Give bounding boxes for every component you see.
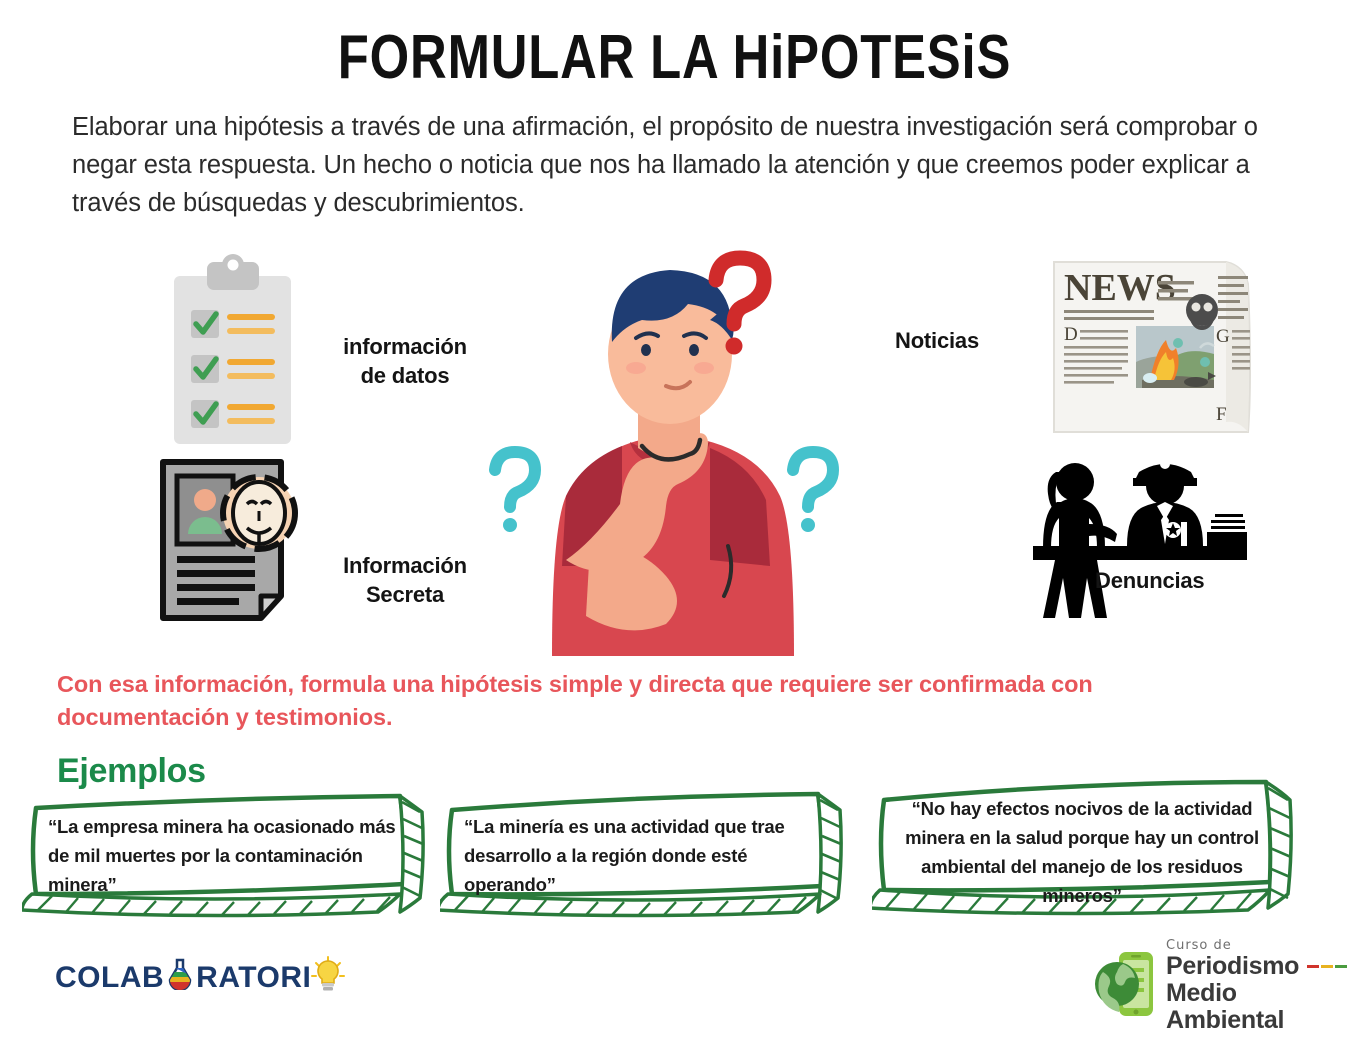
- example-quote: “No hay efectos nocivos de la actividad …: [892, 794, 1272, 910]
- clipboard-checklist-icon: [160, 254, 305, 454]
- question-mark-red-icon: [700, 250, 776, 365]
- examples-heading: Ejemplos: [57, 752, 206, 791]
- curso-line-periodismo: Periodismo: [1166, 953, 1349, 980]
- curso-label: Curso de: [1166, 938, 1349, 953]
- police-report-desk-icon: [1025, 450, 1255, 635]
- svg-text:NEWS: NEWS: [1064, 267, 1176, 309]
- lightbulb-icon: [311, 955, 345, 1001]
- question-mark-teal-left-icon: [482, 444, 544, 541]
- curso-color-bar: [1307, 965, 1347, 968]
- svg-text:G: G: [1216, 326, 1230, 347]
- curso-line-periodismo-text: Periodismo: [1166, 953, 1299, 980]
- example-box: “No hay efectos nocivos de la actividad …: [872, 778, 1312, 922]
- illustration-band: información de datos I: [0, 236, 1349, 656]
- colaboratorio-text-part1: COLAB: [55, 963, 164, 993]
- label-denuncias: Denuncias: [1095, 566, 1270, 595]
- example-box: “La empresa minera ha ocasionado más de …: [22, 790, 442, 922]
- globe-phone-icon: [1095, 948, 1157, 1025]
- call-to-action-text: Con esa información, formula una hipótes…: [57, 668, 1257, 734]
- curso-line-medio-ambiental: Medio Ambiental: [1166, 980, 1349, 1034]
- newspaper-icon: NEWS D G F: [1050, 250, 1265, 450]
- svg-text:F: F: [1216, 404, 1227, 425]
- question-mark-teal-right-icon: [780, 444, 842, 541]
- rainbow-flask-icon: [165, 958, 195, 998]
- colaboratorio-text-part2: RATORI: [196, 963, 311, 993]
- example-box: “La minería es una actividad que trae de…: [440, 790, 860, 922]
- colaboratorio-logo: COLAB RATORI: [55, 955, 345, 1001]
- example-quote: “La empresa minera ha ocasionado más de …: [48, 812, 400, 899]
- curso-periodismo-logo: Curso de Periodismo Medio Ambiental: [1095, 938, 1349, 1034]
- svg-text:D: D: [1064, 324, 1078, 345]
- label-noticias: Noticias: [895, 326, 1035, 355]
- infographic-page: FORMULAR LA HiPOTESiS Elaborar una hipót…: [0, 0, 1349, 1047]
- intro-paragraph: Elaborar una hipótesis a través de una a…: [72, 108, 1287, 222]
- page-title: FORMULAR LA HiPOTESiS: [121, 22, 1227, 93]
- example-quote: “La minería es una actividad que trae de…: [464, 812, 820, 899]
